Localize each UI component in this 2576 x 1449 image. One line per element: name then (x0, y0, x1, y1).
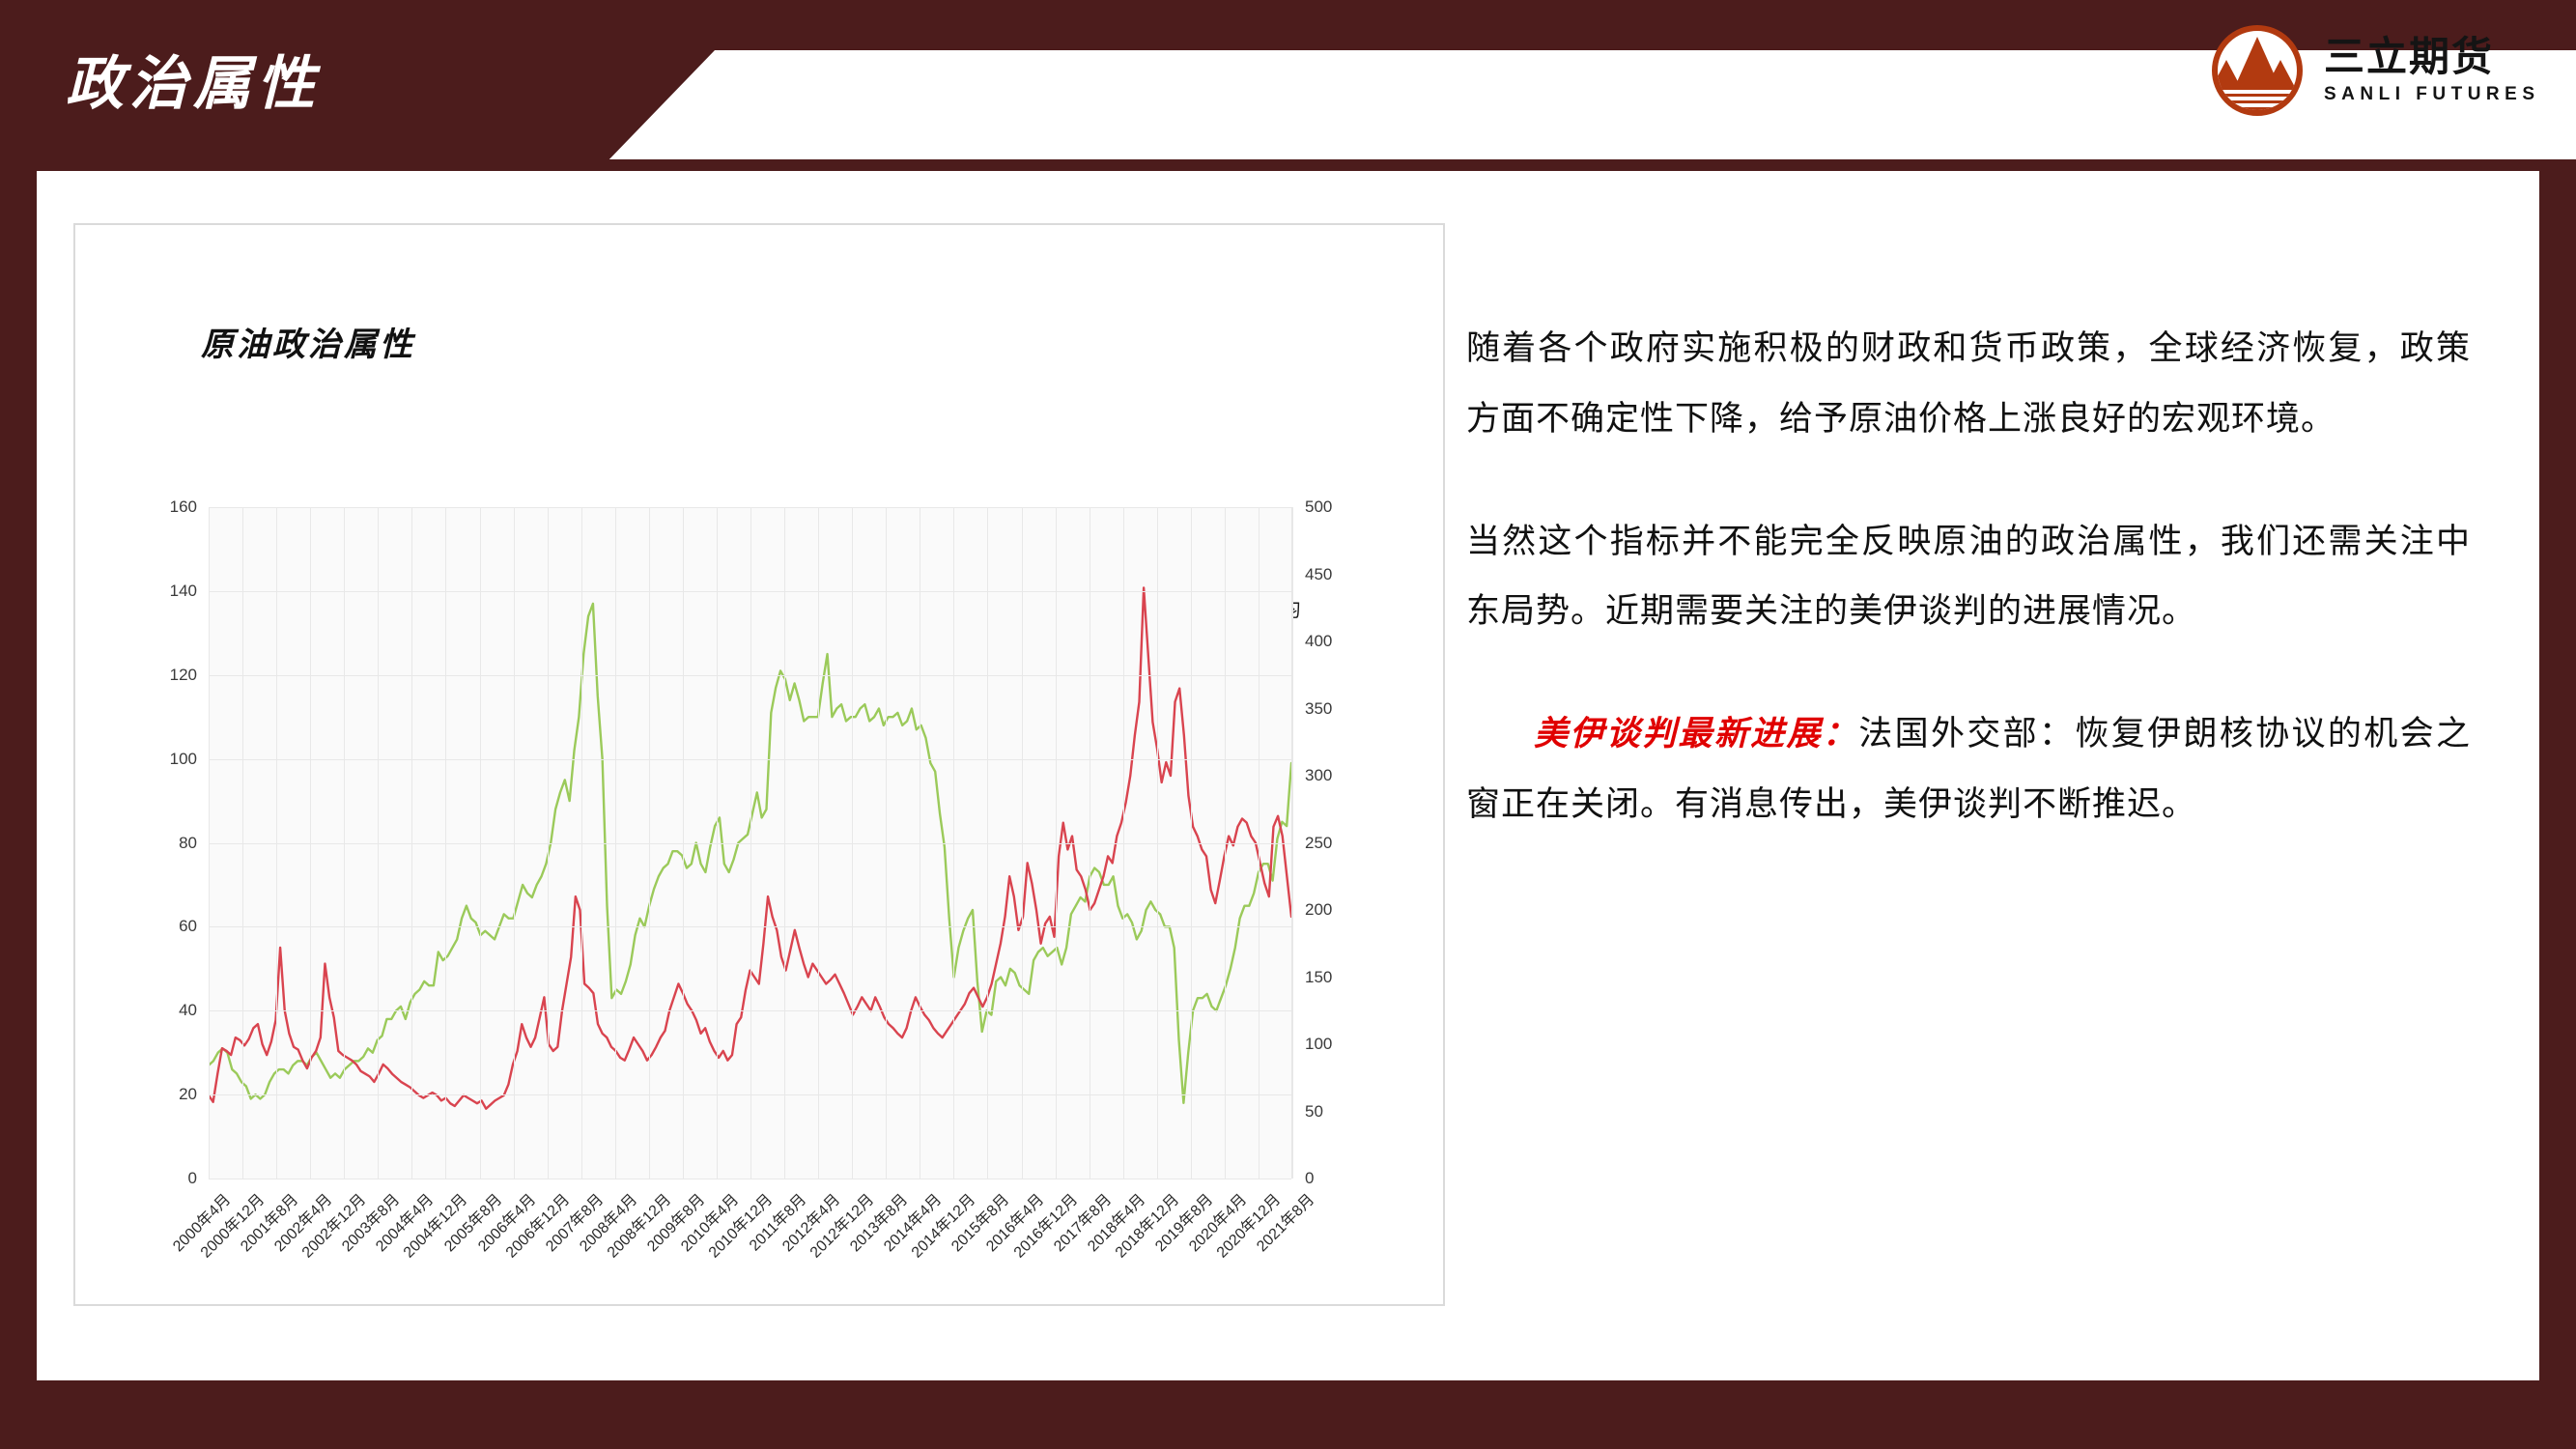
y-axis-right-tick: 150 (1305, 968, 1332, 987)
y-axis-right-tick: 500 (1305, 497, 1332, 517)
gridline (1292, 507, 1293, 1179)
y-axis-left-tick: 0 (188, 1169, 197, 1188)
gridline (717, 507, 718, 1179)
y-axis-left-tick: 100 (170, 750, 197, 769)
chart-title: 原油政治属性 (201, 318, 415, 365)
content-panel: 原油政治属性 原油现货价:布伦特DTD:月均 全球:经济政策不确定性指数:按购买… (37, 171, 2539, 1380)
y-axis-right-tick: 250 (1305, 834, 1332, 853)
y-axis-left-tick: 140 (170, 582, 197, 601)
gridline (1123, 507, 1124, 1179)
gridline (344, 507, 345, 1179)
gridline (378, 507, 379, 1179)
gridline (920, 507, 920, 1179)
page-title: 政治属性 (66, 37, 321, 121)
gridline (683, 507, 684, 1179)
y-axis-left-tick: 160 (170, 497, 197, 517)
gridline (581, 507, 582, 1179)
gridline (852, 507, 853, 1179)
logo-name-cn: 三立期货 (2324, 36, 2540, 78)
mountain-logo-icon (2212, 25, 2303, 116)
gridline (411, 507, 412, 1179)
gridline (818, 507, 819, 1179)
gridline (750, 507, 751, 1179)
y-axis-left-tick: 20 (179, 1085, 197, 1104)
commentary-paragraph-2: 当然这个指标并不能完全反映原油的政治属性，我们还需关注中东局势。近期需要关注的美… (1466, 507, 2471, 648)
gridline (1225, 507, 1226, 1179)
gridline (784, 507, 785, 1179)
company-logo: 三立期货 SANLI FUTURES (2212, 25, 2540, 116)
gridline (209, 1179, 1291, 1179)
gridline (480, 507, 481, 1179)
gridline (1022, 507, 1023, 1179)
y-axis-right-tick: 100 (1305, 1035, 1332, 1054)
y-axis-right-tick: 200 (1305, 900, 1332, 920)
commentary-highlight: 美伊谈判最新进展： (1534, 715, 1858, 753)
plot-area: 0204060801001201401600501001502002503003… (209, 507, 1292, 1179)
header-bar: 政治属性 三立期货 SANLI FUTURES (0, 0, 2576, 166)
chart-container: 原油政治属性 原油现货价:布伦特DTD:月均 全球:经济政策不确定性指数:按购买… (73, 223, 1445, 1306)
gridline (548, 507, 549, 1179)
gridline (953, 507, 954, 1179)
gridline (615, 507, 616, 1179)
y-axis-right-tick: 50 (1305, 1102, 1323, 1122)
gridline (242, 507, 243, 1179)
y-axis-left-tick: 40 (179, 1001, 197, 1020)
y-axis-left-tick: 60 (179, 917, 197, 936)
gridline (1157, 507, 1158, 1179)
gridline (886, 507, 887, 1179)
y-axis-right-tick: 350 (1305, 699, 1332, 719)
logo-name-en: SANLI FUTURES (2324, 84, 2540, 105)
y-axis-right-tick: 450 (1305, 565, 1332, 584)
logo-text-block: 三立期货 SANLI FUTURES (2324, 36, 2540, 105)
gridline (1259, 507, 1260, 1179)
y-axis-right-tick: 300 (1305, 766, 1332, 785)
header-divider (0, 159, 2576, 171)
gridline (987, 507, 988, 1179)
x-axis-labels: 2000年4月2000年12月2001年8月2002年4月2002年12月200… (209, 1183, 1292, 1319)
y-axis-left-tick: 80 (179, 834, 197, 853)
commentary-paragraph-3: 美伊谈判最新进展：法国外交部：恢复伊朗核协议的机会之窗正在关闭。有消息传出，美伊… (1466, 699, 2471, 840)
gridline (1090, 507, 1090, 1179)
gridline (445, 507, 446, 1179)
y-axis-left-tick: 120 (170, 666, 197, 685)
y-axis-right-tick: 0 (1305, 1169, 1314, 1188)
commentary-column: 随着各个政府实施积极的财政和货币政策，全球经济恢复，政策方面不确定性下降，给予原… (1466, 314, 2471, 893)
gridline (1191, 507, 1192, 1179)
gridline (310, 507, 311, 1179)
commentary-paragraph-1: 随着各个政府实施积极的财政和货币政策，全球经济恢复，政策方面不确定性下降，给予原… (1466, 314, 2471, 455)
gridline (649, 507, 650, 1179)
slide-root: 政治属性 三立期货 SANLI FUTURES 原油政治属性 原油现货价:布伦特… (0, 0, 2576, 1449)
y-axis-right-tick: 400 (1305, 632, 1332, 651)
gridline (276, 507, 277, 1179)
gridline (209, 507, 210, 1179)
gridline (514, 507, 515, 1179)
gridline (1056, 507, 1057, 1179)
